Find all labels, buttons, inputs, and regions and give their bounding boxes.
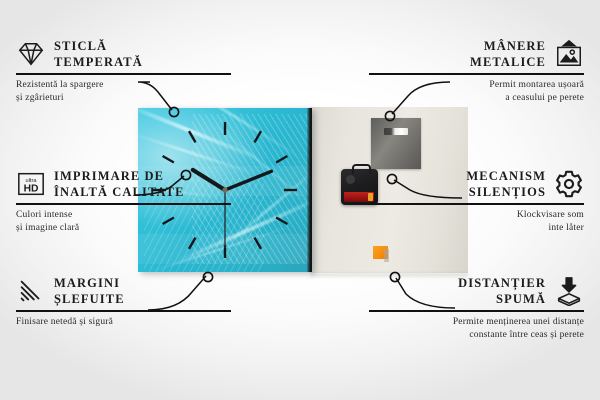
callout-title-line1: IMPRIMARE DE — [54, 168, 185, 184]
gear-icon — [554, 169, 584, 199]
callout-mecanism-silentios: MECANISM SILENȚIOS Klockvisare som inte … — [369, 168, 584, 236]
callout-rule — [16, 203, 231, 205]
hd-label: HD — [24, 184, 39, 195]
callout-rule — [16, 73, 231, 75]
callout-title-line1: MÂNERE — [470, 38, 546, 54]
callout-title: MARGINI ȘLEFUITE — [54, 275, 125, 307]
callout-desc-line2: inte låter — [369, 222, 584, 236]
picture-frame-hanger-icon — [554, 39, 584, 69]
callout-imprimare-calitate: ultra HD IMPRIMARE DE ÎNALTĂ CALITATE Cu… — [16, 168, 231, 236]
callout-desc-line2: și zgârieturi — [16, 92, 231, 106]
callout-desc-line1: Klockvisare som — [369, 209, 584, 223]
callout-desc-line1: Permite menținerea unei distanțe — [369, 316, 584, 330]
callout-desc-line2: a ceasului pe perete — [369, 92, 584, 106]
callout-desc: Permite menținerea unei distanțe constan… — [369, 316, 584, 344]
metal-hanger-plate — [371, 118, 421, 169]
callout-head: MÂNERE METALICE — [369, 38, 584, 70]
ultra-hd-icon: ultra HD — [16, 169, 46, 199]
callout-desc: Permit montarea ușoară a ceasului pe per… — [369, 79, 584, 107]
hanger-slot — [384, 128, 408, 135]
callout-title-line2: TEMPERATĂ — [54, 54, 143, 70]
callout-head: ultra HD IMPRIMARE DE ÎNALTĂ CALITATE — [16, 168, 231, 200]
infographic-canvas: STICLĂ TEMPERATĂ Rezistentă la spargere … — [0, 0, 600, 400]
callout-title: IMPRIMARE DE ÎNALTĂ CALITATE — [54, 168, 185, 200]
callout-desc-line1: Permit montarea ușoară — [369, 79, 584, 93]
callout-desc-line1: Rezistentă la spargere — [16, 79, 231, 93]
callout-rule — [16, 310, 231, 312]
callout-desc-line2: constante între ceas și perete — [369, 329, 584, 343]
callout-title-line2: SILENȚIOS — [466, 184, 546, 200]
callout-desc: Rezistentă la spargere și zgârieturi — [16, 79, 231, 107]
callout-title: DISTANȚIER SPUMĂ — [458, 275, 546, 307]
foam-spacer-pad — [373, 246, 388, 259]
callout-rule — [369, 310, 584, 312]
callout-rule — [369, 203, 584, 205]
callout-desc: Finisare netedă și sigură — [16, 316, 231, 330]
callout-desc: Culori intense și imagine clară — [16, 209, 231, 237]
callout-sticla-temperata: STICLĂ TEMPERATĂ Rezistentă la spargere … — [16, 38, 231, 106]
callout-title-line2: ȘLEFUITE — [54, 291, 125, 307]
callout-title-line1: DISTANȚIER — [458, 275, 546, 291]
callout-head: STICLĂ TEMPERATĂ — [16, 38, 231, 70]
polished-edge-icon — [16, 276, 46, 306]
callout-title: MÂNERE METALICE — [470, 38, 546, 70]
callout-distantier-spuma: DISTANȚIER SPUMĂ Permite menținerea unei… — [369, 275, 584, 343]
callout-title-line2: METALICE — [470, 54, 546, 70]
callout-desc-line2: și imagine clară — [16, 222, 231, 236]
callout-title: MECANISM SILENȚIOS — [466, 168, 546, 200]
callout-manere-metalice: MÂNERE METALICE Permit montarea ușoară a… — [369, 38, 584, 106]
callout-head: MECANISM SILENȚIOS — [369, 168, 584, 200]
callout-desc: Klockvisare som inte låter — [369, 209, 584, 237]
callout-title-line1: MECANISM — [466, 168, 546, 184]
callout-title: STICLĂ TEMPERATĂ — [54, 38, 143, 70]
foam-spacer-icon — [554, 276, 584, 306]
callout-title-line1: MARGINI — [54, 275, 125, 291]
callout-title-line2: ÎNALTĂ CALITATE — [54, 184, 185, 200]
callout-title-line2: SPUMĂ — [458, 291, 546, 307]
callout-head: DISTANȚIER SPUMĂ — [369, 275, 584, 307]
movement-dial — [346, 175, 355, 184]
diamond-icon — [16, 39, 46, 69]
callout-margini-slefuite: MARGINI ȘLEFUITE Finisare netedă și sigu… — [16, 275, 231, 329]
callout-head: MARGINI ȘLEFUITE — [16, 275, 231, 307]
callout-desc-line1: Culori intense — [16, 209, 231, 223]
callout-title-line1: STICLĂ — [54, 38, 143, 54]
callout-desc-line1: Finisare netedă și sigură — [16, 316, 231, 330]
callout-rule — [369, 73, 584, 75]
